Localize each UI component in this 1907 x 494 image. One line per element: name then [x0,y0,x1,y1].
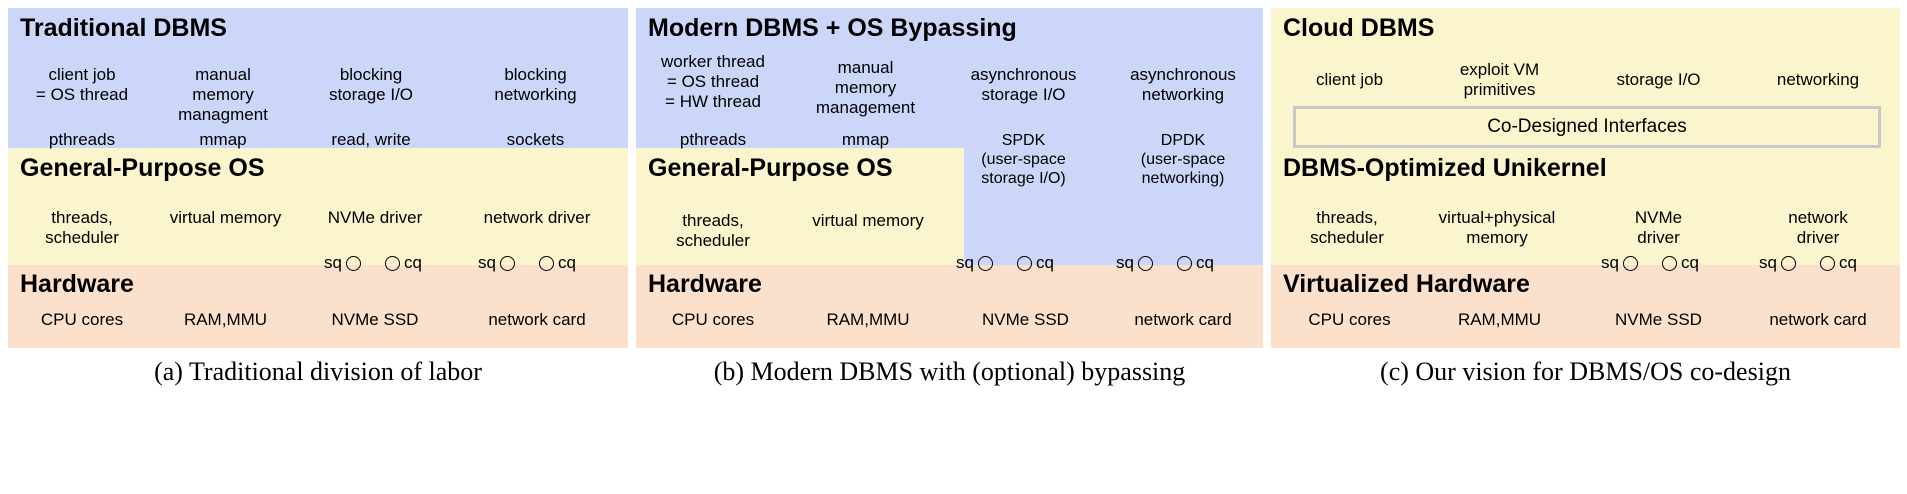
panel-c-nic-cq-label: cq [1839,254,1857,272]
panel-b-dbms-col-4: asynchronous networking [1104,65,1262,105]
caption-panel-c: (c) Our vision for DBMS/OS co-design [1271,352,1900,392]
panel-modern-dbms-bypassing: Modern DBMS + OS Bypassing worker thread… [636,8,1263,348]
panel-c-dbms-col-4: networking [1739,70,1897,90]
completion-queue-icon [1017,256,1032,271]
panel-a-api-sockets: sockets [448,130,623,150]
panel-b-hw-col-3: NVMe SSD [948,310,1103,330]
panel-c-os-col-2: virtual+physical memory [1417,208,1577,248]
completion-queue-icon [385,256,400,271]
panel-c-os-col-1: threads, scheduler [1277,208,1417,248]
panel-a-dbms-col-2: manual memory managment [148,65,298,125]
caption-panel-a: (a) Traditional division of labor [8,352,628,392]
completion-queue-icon [539,256,554,271]
submission-queue-icon [1623,256,1638,271]
submission-queue-icon [1781,256,1796,271]
panel-a-dbms-col-3: blocking storage I/O [296,65,446,105]
submission-queue-icon [346,256,361,271]
panel-b-dbms-title: Modern DBMS + OS Bypassing [648,14,1017,42]
panel-b-hw-col-2: RAM,MMU [788,310,948,330]
panel-b-hardware-title: Hardware [648,270,762,298]
panel-b-nvme-cq-label: cq [1036,254,1054,272]
panel-c-nic-sq-label: sq [1759,254,1777,272]
panel-c-nic-queue-pair: sq cq [1759,254,1857,272]
submission-queue-icon [978,256,993,271]
panel-traditional-division-of-labor: Traditional DBMS client job = OS thread … [8,8,628,348]
panel-a-hw-col-4: network card [448,310,626,330]
panel-b-hw-col-4: network card [1104,310,1262,330]
submission-queue-icon [500,256,515,271]
panel-b-os-col-1: threads, scheduler [638,211,788,251]
panel-a-dbms-col-1: client job = OS thread [12,65,152,105]
panel-b-dbms-col-1: worker thread = OS thread = HW thread [638,52,788,112]
panel-a-nic-cq-label: cq [558,254,576,272]
panel-c-hw-col-1: CPU cores [1277,310,1422,330]
panel-a-nic-sq-label: sq [478,254,496,272]
completion-queue-icon [1177,256,1192,271]
panel-a-dbms-title: Traditional DBMS [20,14,227,42]
panel-a-nic-queue-pair: sq cq [478,254,576,272]
panel-c-hw-col-4: network card [1739,310,1897,330]
panel-b-nic-sq-label: sq [1116,254,1134,272]
panel-a-hw-col-2: RAM,MMU [148,310,303,330]
panel-a-hw-col-3: NVMe SSD [300,310,450,330]
panel-a-nvme-sq-label: sq [324,254,342,272]
panel-c-nvme-sq-label: sq [1601,254,1619,272]
panel-c-os-title: DBMS-Optimized Unikernel [1283,154,1607,182]
panel-c-hw-col-2: RAM,MMU [1422,310,1577,330]
panel-c-dbms-col-2: exploit VM primitives [1422,60,1577,100]
panel-a-hw-col-1: CPU cores [12,310,152,330]
panel-b-os-title: General-Purpose OS [648,154,893,182]
panel-a-dbms-col-4: blocking networking [448,65,623,105]
panel-c-hardware-title: Virtualized Hardware [1283,270,1530,298]
panel-b-nic-cq-label: cq [1196,254,1214,272]
panel-c-dbms-col-1: client job [1277,70,1422,90]
panel-a-os-col-2: virtual memory [148,208,303,228]
panel-b-hw-col-1: CPU cores [638,310,788,330]
panel-a-os-col-1: threads, scheduler [12,208,152,248]
panel-b-bypass-dpdk: DPDK (user-space networking) [1104,131,1262,188]
panel-a-hardware-title: Hardware [20,270,134,298]
panel-a-nvme-cq-label: cq [404,254,422,272]
panel-b-nvme-queue-pair: sq cq [956,254,1054,272]
caption-panel-b: (b) Modern DBMS with (optional) bypassin… [636,352,1263,392]
panel-b-api-pthreads: pthreads [638,130,788,150]
submission-queue-icon [1138,256,1153,271]
panel-a-os-title: General-Purpose OS [20,154,265,182]
panel-c-nvme-cq-label: cq [1681,254,1699,272]
panel-b-bypass-spdk: SPDK (user-space storage I/O) [946,131,1101,188]
co-designed-interfaces-label: Co-Designed Interfaces [1487,116,1687,138]
panel-c-nvme-queue-pair: sq cq [1601,254,1699,272]
panel-b-nvme-sq-label: sq [956,254,974,272]
panel-c-os-col-4: network driver [1739,208,1897,248]
panel-a-api-mmap: mmap [148,130,298,150]
panel-a-nvme-queue-pair: sq cq [324,254,422,272]
panel-b-nic-queue-pair: sq cq [1116,254,1214,272]
panel-c-hw-col-3: NVMe SSD [1581,310,1736,330]
panel-a-api-pthreads: pthreads [12,130,152,150]
panel-a-os-col-3: NVMe driver [300,208,450,228]
completion-queue-icon [1820,256,1835,271]
panel-b-dbms-col-2: manual memory management [788,58,943,118]
panel-a-api-read-write: read, write [296,130,446,150]
co-designed-interfaces-box: Co-Designed Interfaces [1293,106,1881,148]
panel-a-os-col-4: network driver [448,208,626,228]
completion-queue-icon [1662,256,1677,271]
panel-c-dbms-col-3: storage I/O [1581,70,1736,90]
panel-our-vision-codesign: Cloud DBMS client job exploit VM primiti… [1271,8,1900,348]
panel-b-os-col-2: virtual memory [788,211,948,231]
panel-b-api-mmap: mmap [788,130,943,150]
panel-c-os-col-3: NVMe driver [1581,208,1736,248]
panel-b-dbms-col-3: asynchronous storage I/O [946,65,1101,105]
figure-dbms-os-codesign: Traditional DBMS client job = OS thread … [0,0,1907,494]
panel-c-dbms-title: Cloud DBMS [1283,14,1434,42]
